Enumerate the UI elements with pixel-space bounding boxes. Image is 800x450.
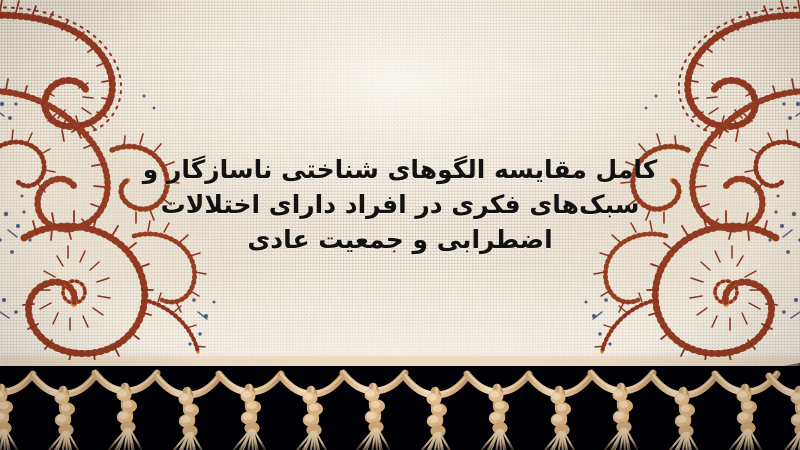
pateh-cloth [0,0,800,382]
title-card: کامل مقایسه الگوهای شناختی ناسازگار و سب… [0,0,800,450]
